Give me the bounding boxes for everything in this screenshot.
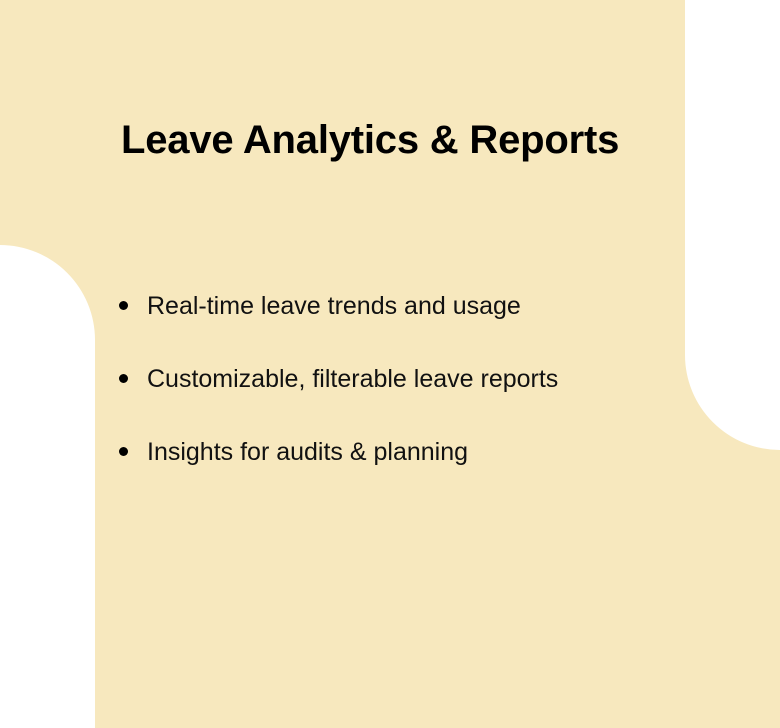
list-item-label: Insights for audits & planning	[147, 434, 468, 470]
list-item-label: Real-time leave trends and usage	[147, 288, 521, 324]
page-title: Leave Analytics & Reports	[121, 114, 619, 166]
bullet-dot-icon	[119, 447, 128, 456]
feature-list: Real-time leave trends and usage Customi…	[119, 288, 719, 507]
bullet-dot-icon	[119, 374, 128, 383]
list-item-label: Customizable, filterable leave reports	[147, 361, 558, 397]
slide-content: Leave Analytics & Reports Real-time leav…	[0, 0, 780, 728]
list-item: Customizable, filterable leave reports	[119, 361, 719, 434]
slide-canvas: Leave Analytics & Reports Real-time leav…	[0, 0, 780, 728]
list-item: Real-time leave trends and usage	[119, 288, 719, 361]
bullet-dot-icon	[119, 301, 128, 310]
list-item: Insights for audits & planning	[119, 434, 719, 507]
